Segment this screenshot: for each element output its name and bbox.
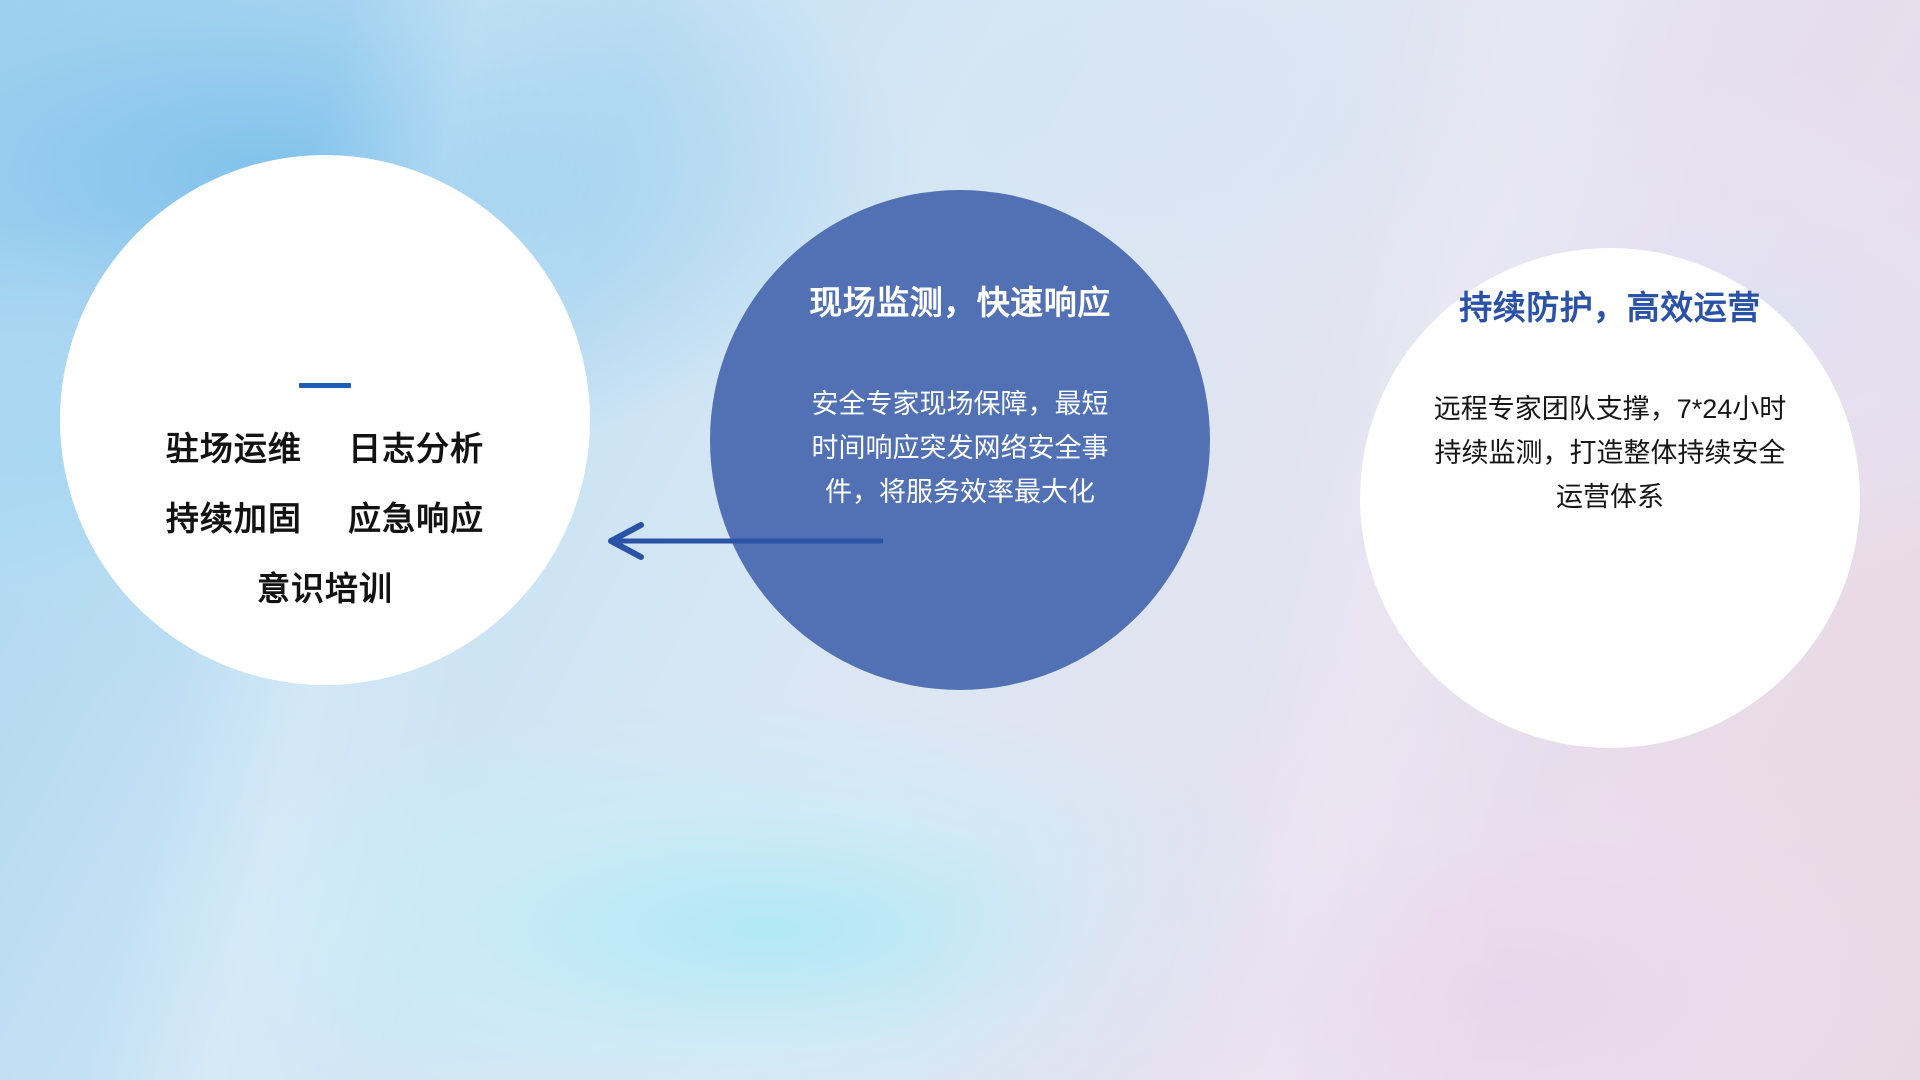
- left-circle-line-3: 意识培训: [257, 572, 393, 605]
- left-circle-content: 驻场运维 日志分析 持续加固 应急响应 意识培训: [60, 155, 590, 685]
- middle-circle-title: 现场监测，快速响应: [809, 285, 1111, 321]
- right-circle-content: 持续防护，高效运营 远程专家团队支撑，7*24小时持续监测，打造整体持续安全运营…: [1360, 248, 1860, 748]
- left-circle-line-2: 持续加固 应急响应: [166, 502, 484, 535]
- left-circle-item-1b: 日志分析: [348, 430, 484, 467]
- left-circle-item-2a: 持续加固: [166, 500, 302, 537]
- left-circle-item-1a: 驻场运维: [166, 430, 302, 467]
- slide-canvas: 驻场运维 日志分析 持续加固 应急响应 意识培训 现场监测，快速响应 安全专家现…: [0, 0, 1920, 1080]
- left-circle-divider: [299, 383, 351, 388]
- right-circle-body: 远程专家团队支撑，7*24小时持续监测，打造整体持续安全运营体系: [1430, 388, 1790, 519]
- middle-circle-content: 现场监测，快速响应 安全专家现场保障，最短时间响应突发网络安全事件，将服务效率最…: [710, 190, 1210, 690]
- middle-circle-body: 安全专家现场保障，最短时间响应突发网络安全事件，将服务效率最大化: [800, 383, 1120, 514]
- left-circle-item-2b: 应急响应: [348, 500, 484, 537]
- left-circle-line-1: 驻场运维 日志分析: [166, 432, 484, 465]
- right-circle-title: 持续防护，高效运营: [1459, 290, 1761, 326]
- left-circle-item-3a: 意识培训: [257, 570, 393, 607]
